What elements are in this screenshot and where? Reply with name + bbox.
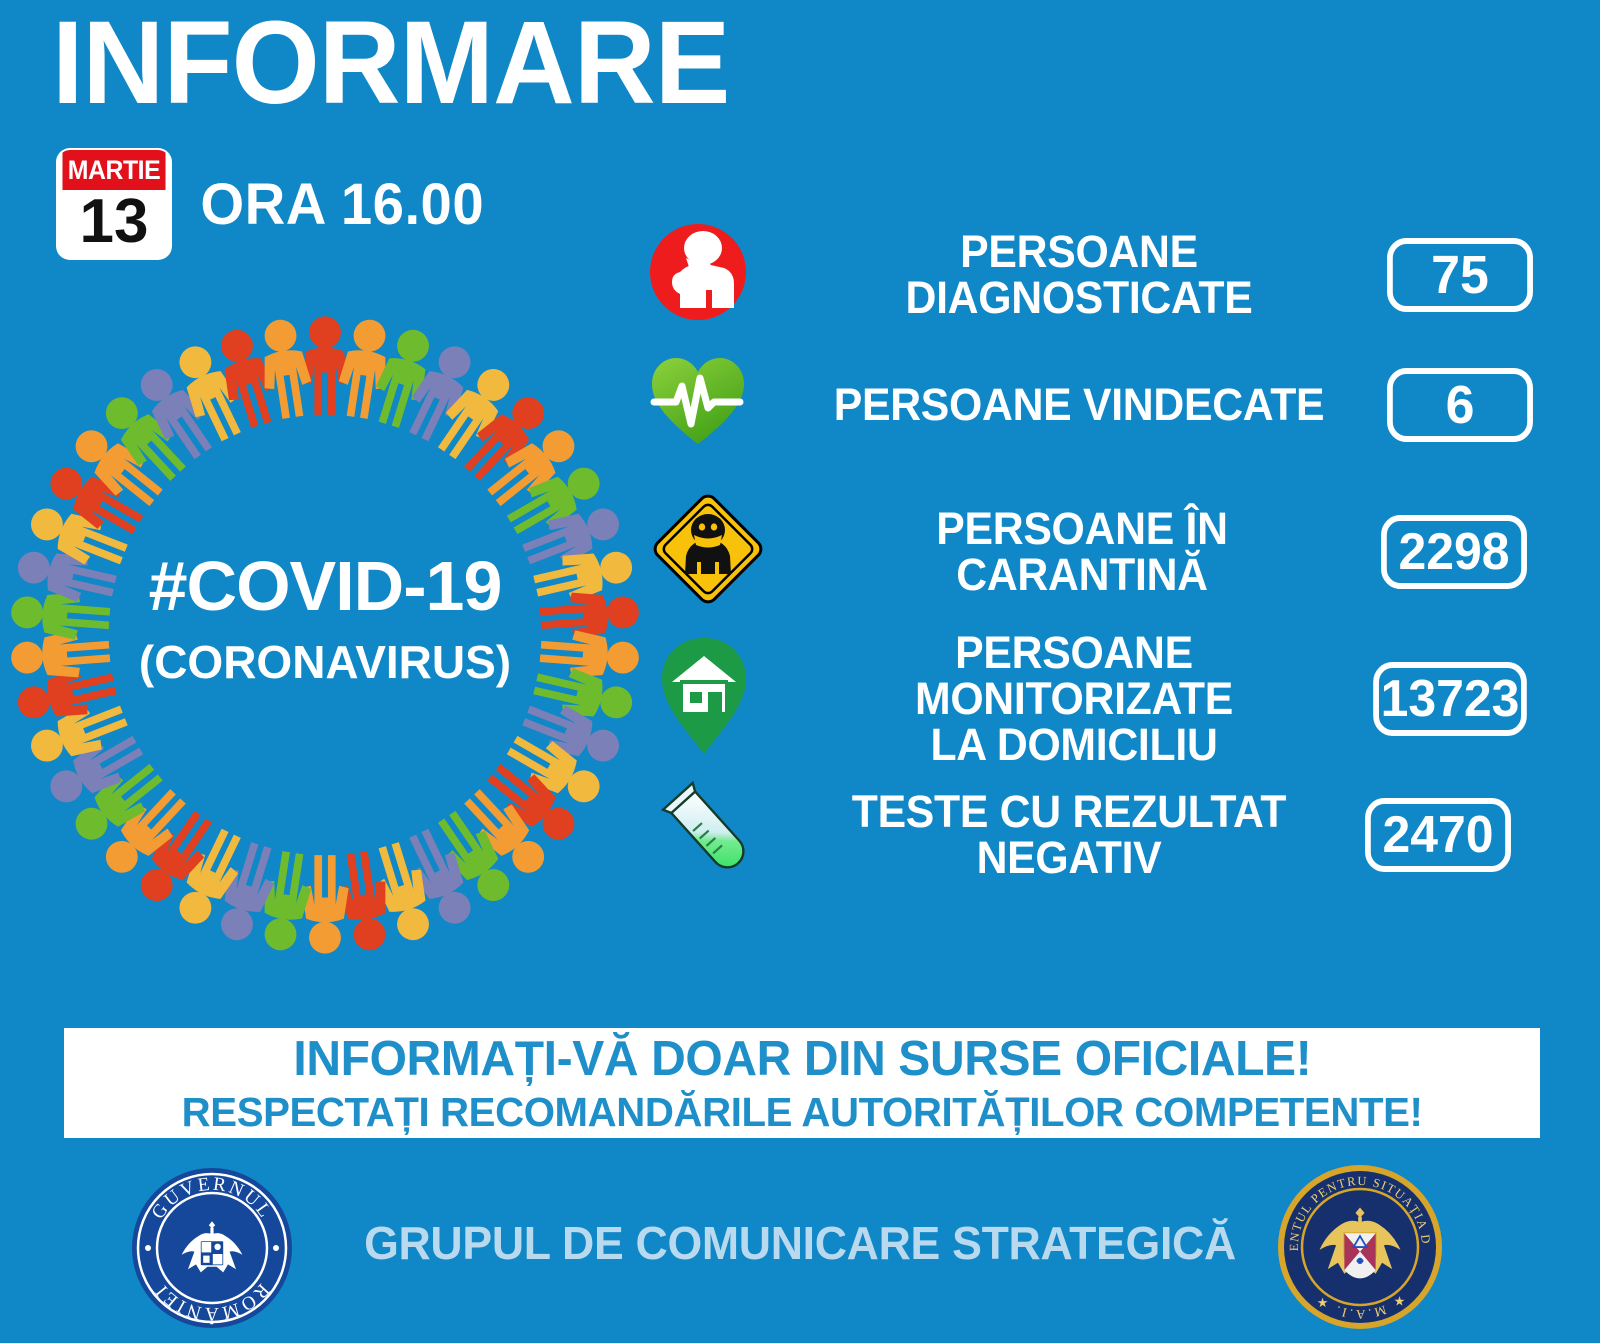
calendar-day-number: 13: [58, 190, 170, 258]
notice-line-2: RESPECTAȚI RECOMANDĂRILE AUTORITĂȚILOR C…: [182, 1089, 1423, 1136]
time-label: ORA 16.00: [200, 171, 484, 238]
stat-label-monitored-line1: PERSOANE MONITORIZATE: [799, 630, 1350, 722]
date-time-group: MARTIE 13 ORA 16.00: [58, 150, 489, 258]
heart-pulse-icon: [646, 350, 750, 459]
stat-label-negative-tests: TESTE CU REZULTAT NEGATIV: [796, 789, 1341, 881]
page-title: INFORMARE: [52, 4, 729, 122]
stat-label-recovered: PERSOANE VINDECATE: [799, 382, 1360, 428]
dsu-mai-seal: DEPARTAMENTUL PENTRU SITUAȚIA DE URGENȚĂ…: [1276, 1162, 1444, 1332]
coughing-person-icon: [646, 220, 750, 329]
covid-subtitle: (CORONAVIRUS): [10, 639, 640, 685]
covid-hashtag: #COVID-19: [10, 551, 640, 621]
stat-row-diagnosed: PERSOANE DIAGNOSTICATE 75: [646, 220, 1536, 329]
stat-label-diagnosed: PERSOANE DIAGNOSTICATE: [799, 229, 1360, 321]
stat-row-negative-tests: TESTE CU REZULTAT NEGATIV 2470: [660, 780, 1514, 889]
stat-value-diagnosed: 75: [1387, 238, 1533, 312]
stat-row-quarantine: PERSOANE ÎN CARANTINĂ 2298: [652, 490, 1530, 613]
stat-label-monitored: PERSOANE MONITORIZATE LA DOMICILIU: [799, 630, 1350, 768]
poster-root: INFORMARE MARTIE 13 ORA 16.00 #COVID-19 …: [0, 0, 1600, 1343]
calendar-month-label: MARTIE: [62, 150, 165, 190]
stat-label-quarantine: PERSOANE ÎN CARANTINĂ: [807, 506, 1358, 598]
stat-label-monitored-line2: LA DOMICILIU: [799, 722, 1350, 768]
calendar-icon: MARTIE 13: [58, 150, 170, 258]
covid-label-group: #COVID-19 (CORONAVIRUS): [10, 551, 640, 685]
footer: GUVERNUL ROMÂNIEI: [0, 1152, 1600, 1342]
stat-value-quarantine: 2298: [1381, 515, 1527, 589]
stat-value-recovered: 6: [1387, 368, 1533, 442]
notice-line-1: INFORMAȚI-VĂ DOAR DIN SURSE OFICIALE!: [293, 1031, 1311, 1087]
stat-row-recovered: PERSOANE VINDECATE 6: [646, 350, 1536, 459]
covid-hero: #COVID-19 (CORONAVIRUS): [10, 315, 640, 955]
home-pin-icon: [652, 634, 756, 763]
test-tube-icon: [660, 780, 760, 889]
stat-value-monitored: 13723: [1373, 662, 1527, 736]
masked-person-sign-icon: [652, 490, 764, 613]
stat-value-negative-tests: 2470: [1365, 798, 1511, 872]
official-sources-notice: INFORMAȚI-VĂ DOAR DIN SURSE OFICIALE! RE…: [64, 1028, 1540, 1138]
stat-row-monitored: PERSOANE MONITORIZATE LA DOMICILIU 13723: [652, 630, 1530, 768]
